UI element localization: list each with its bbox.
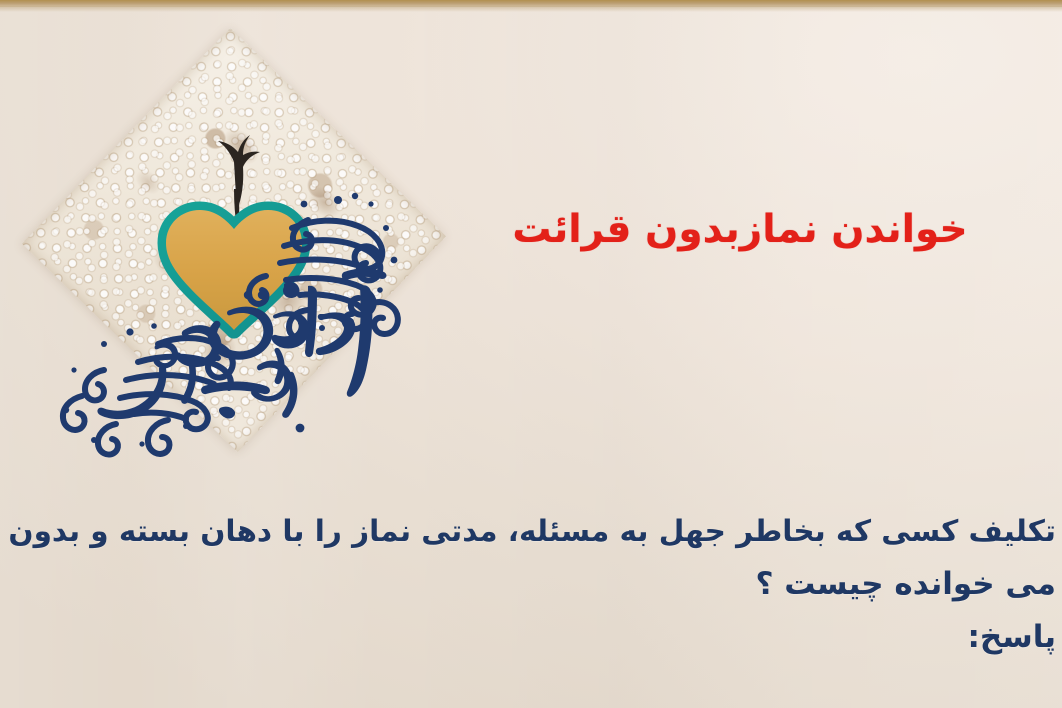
damma-diacritic	[283, 282, 300, 298]
logo-artwork	[8, 14, 460, 466]
top-border-stripe-fade	[0, 6, 1062, 12]
swirl-ornament-left	[63, 338, 233, 455]
question-line-2: می خوانده چیست ؟	[4, 558, 1056, 611]
page-title: خواندن نمازبدون قرائت	[470, 206, 1010, 255]
aram-bakhsh-ghavi-logo	[8, 14, 460, 466]
slide-canvas: خواندن نمازبدون قرائت تکلیف کسی که بخاطر…	[0, 0, 1062, 708]
question-body: تکلیف کسی که بخاطر جهل به مسئله، مدتی نم…	[0, 505, 1062, 664]
kasra-diacritic	[219, 407, 235, 419]
answer-label: پاسخ:	[4, 611, 1056, 664]
question-line-1: تکلیف کسی که بخاطر جهل به مسئله، مدتی نم…	[4, 505, 1056, 558]
be-dot	[296, 424, 305, 433]
